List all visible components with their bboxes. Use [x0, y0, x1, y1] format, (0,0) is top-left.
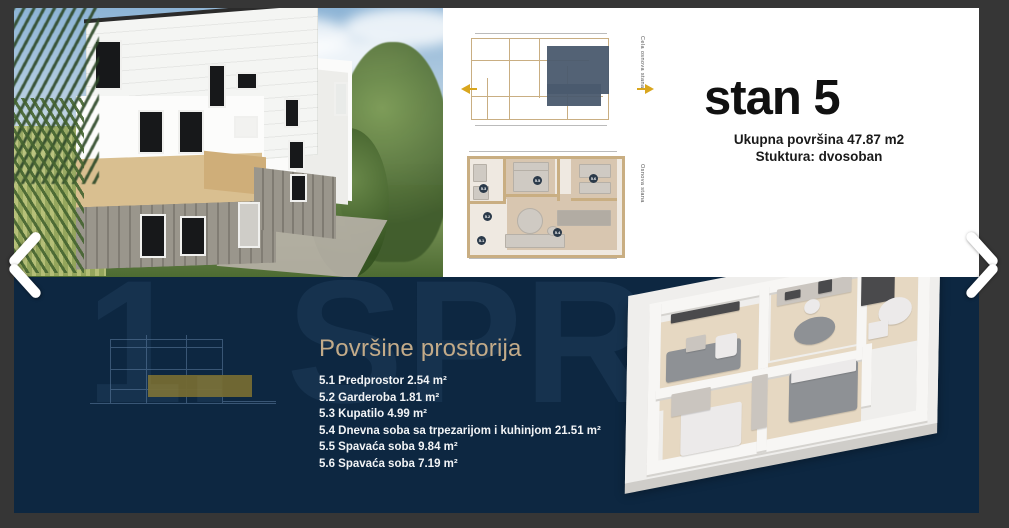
dimension-line [469, 151, 617, 152]
window-shape [142, 216, 164, 256]
plan-wall [509, 38, 510, 120]
floorplan-column: Cela osnova stana [443, 8, 658, 277]
sofa-furniture [557, 210, 611, 226]
total-area-text: Ukupna površina 47.87 m2 [704, 132, 934, 147]
details-panel: 1. SPRAT Površine prostorija 5.1 Predpro… [14, 277, 979, 513]
window-shape [182, 218, 204, 254]
window-shape [292, 176, 305, 200]
room-marker: 5.1 [477, 236, 486, 245]
entrance-door [240, 204, 258, 246]
chevron-right-icon [964, 262, 1000, 300]
plan-wall [487, 78, 488, 120]
chevron-right-icon [964, 230, 1000, 268]
structure-text: Stuktura: dvosoban [704, 149, 934, 164]
wardrobe [751, 374, 768, 431]
window-shape [140, 112, 162, 152]
blueprint-line [110, 369, 222, 370]
next-slide-button[interactable] [957, 226, 1003, 304]
isometric-model [619, 277, 947, 495]
detail-floorplan: 5.5 5.3 5.6 5.2 5.1 5.4 [461, 150, 631, 262]
prev-slide-button[interactable] [4, 226, 50, 304]
chevron-left-icon [7, 230, 43, 268]
dimension-line [475, 33, 607, 34]
highlighted-unit [547, 84, 601, 106]
room-marker: 5.6 [589, 174, 598, 183]
slideshow-viewer: Cela osnova stana [0, 0, 1009, 528]
highlighted-floor-band [148, 375, 252, 397]
window-shape [96, 42, 120, 88]
exterior-render-image [14, 8, 443, 277]
ground-line [90, 403, 276, 404]
title-panel: stan 5 Ukupna površina 47.87 m2 Stuktura… [658, 8, 979, 277]
blueprint-line [110, 347, 222, 348]
overview-plan-label: Cela osnova stana [639, 36, 645, 88]
direction-arrow-right-icon [645, 84, 654, 94]
overview-floorplan [461, 26, 631, 132]
window-shape [210, 66, 224, 106]
dimension-line [475, 125, 607, 126]
window-shape [290, 142, 303, 168]
interior-wall [758, 285, 769, 369]
detail-plan-label: Osnova stana [639, 164, 645, 203]
slide-content: Cela osnova stana [14, 8, 979, 513]
plan-wall [470, 201, 506, 204]
pillow-furniture [513, 162, 549, 171]
dimension-line [469, 258, 617, 259]
room-marker: 5.3 [479, 184, 488, 193]
plan-wall [539, 38, 540, 98]
top-strip: Cela osnova stana [14, 8, 979, 277]
plan-wall [505, 194, 559, 197]
window-shape [286, 100, 298, 126]
apartment-3d-render [618, 277, 979, 513]
dining-table-furniture [517, 208, 543, 234]
blueprint-line [110, 339, 222, 340]
interior-wall [861, 343, 872, 407]
window-shape [180, 112, 202, 152]
window-shape [336, 84, 346, 114]
room-marker: 5.4 [553, 228, 562, 237]
window-shape [238, 74, 256, 88]
plan-wall [571, 198, 617, 201]
window-shape [236, 118, 256, 136]
direction-arrow-stem [469, 88, 477, 90]
elevation-blueprint [90, 323, 276, 431]
armchair [715, 332, 737, 359]
room-marker: 5.5 [533, 176, 542, 185]
room-marker: 5.2 [483, 212, 492, 221]
shower-furniture [473, 164, 487, 182]
blueprint-line [222, 401, 276, 402]
chevron-left-icon [7, 262, 43, 300]
blueprint-line [110, 339, 111, 403]
apartment-title: stan 5 [704, 74, 840, 123]
shelf-furniture [579, 182, 611, 194]
